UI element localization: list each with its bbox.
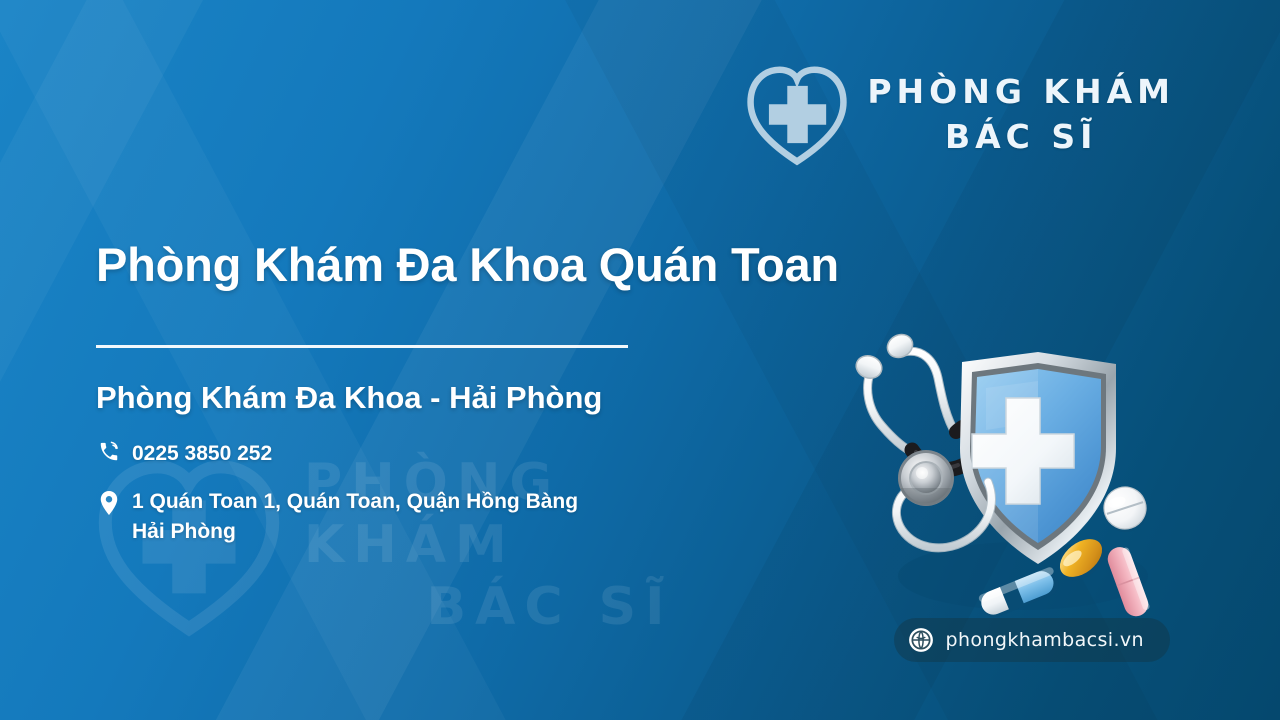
watermark-line2: BÁC SĨ — [427, 576, 674, 638]
phone-row[interactable]: 0225 3850 252 — [96, 439, 876, 469]
website-badge[interactable]: phongkhambacsi.vn — [894, 618, 1170, 662]
brand-logo-text: PHÒNG KHÁM BÁC SĨ — [867, 75, 1175, 153]
brand-logo: PHÒNG KHÁM BÁC SĨ — [743, 60, 1175, 168]
heart-medical-cross-icon — [743, 60, 851, 168]
brand-logo-line1: PHÒNG KHÁM — [867, 75, 1175, 108]
phone-number: 0225 3850 252 — [132, 439, 272, 469]
map-pin-icon — [96, 487, 122, 515]
website-url: phongkhambacsi.vn — [946, 629, 1144, 651]
title-divider — [96, 345, 628, 348]
clinic-subtitle: Phòng Khám Đa Khoa - Hải Phòng — [96, 379, 876, 417]
phone-call-icon — [96, 439, 122, 463]
address-row[interactable]: 1 Quán Toan 1, Quán Toan, Quận Hồng Bàng… — [96, 487, 876, 547]
address-line1: 1 Quán Toan 1, Quán Toan, Quận Hồng Bàng — [132, 490, 578, 513]
clinic-info-block: Phòng Khám Đa Khoa Quán Toan Phòng Khám … — [96, 236, 876, 547]
address-line2: Hải Phòng — [132, 520, 236, 543]
page-title: Phòng Khám Đa Khoa Quán Toan — [96, 236, 876, 294]
address-text: 1 Quán Toan 1, Quán Toan, Quận Hồng Bàng… — [132, 487, 578, 547]
globe-icon — [908, 627, 934, 653]
brand-logo-line2: BÁC SĨ — [945, 120, 1097, 153]
medical-shield-stethoscope-pills-illustration — [838, 326, 1178, 626]
clinic-banner: PHÒNG KHÁM BÁC SĨ PHÒNG KHÁM BÁC SĨ Phòn… — [0, 0, 1280, 720]
